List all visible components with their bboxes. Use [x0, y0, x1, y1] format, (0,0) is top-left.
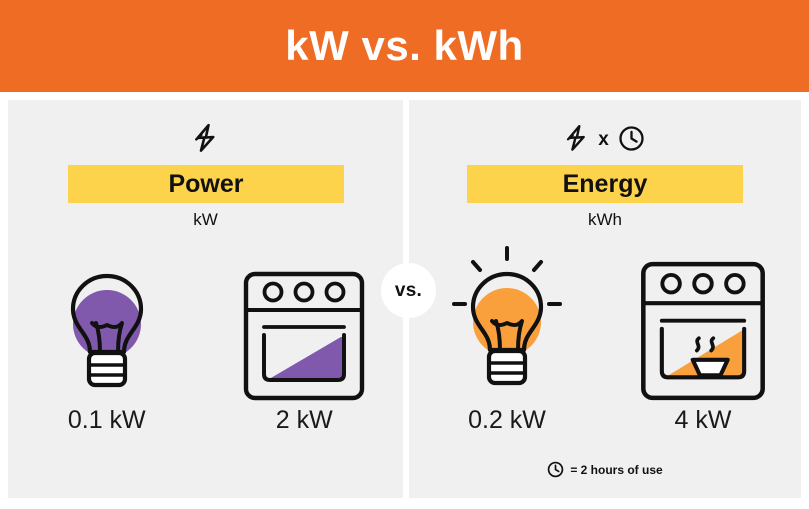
band-label-energy: Energy	[563, 170, 648, 199]
bolt-icon	[193, 123, 219, 153]
multiply-symbol: x	[598, 130, 609, 149]
figures-energy	[409, 242, 801, 402]
vs-label: vs.	[395, 280, 422, 302]
figure-bulb-power	[8, 242, 206, 402]
value-bulb-energy: 0.2 kW	[409, 406, 605, 435]
value-oven-power: 2 kW	[206, 406, 404, 435]
clock-icon	[618, 125, 645, 152]
band-label-power: Power	[168, 170, 243, 199]
unit-power: kW	[8, 210, 403, 230]
formula-power	[8, 118, 403, 158]
lightbulb-icon	[448, 242, 566, 402]
bolt-icon	[565, 123, 589, 153]
oven-icon	[639, 260, 767, 402]
vs-badge: vs.	[381, 263, 436, 318]
value-bulb-power: 0.1 kW	[8, 406, 206, 435]
unit-energy: kWh	[409, 210, 801, 230]
footnote-text: = 2 hours of use	[570, 463, 662, 477]
band-power: Power	[68, 165, 344, 203]
figure-bulb-energy	[409, 242, 605, 402]
clock-icon	[547, 461, 564, 478]
values-power: 0.1 kW 2 kW	[8, 406, 403, 435]
value-oven-energy: 4 kW	[605, 406, 801, 435]
formula-energy: x	[409, 118, 801, 158]
oven-icon	[242, 270, 366, 402]
figure-oven-power	[206, 242, 404, 402]
lightbulb-icon	[59, 262, 155, 402]
panel-power: Power kW	[8, 100, 403, 498]
values-energy: 0.2 kW 4 kW	[409, 406, 801, 435]
page-header: kW vs. kWh	[0, 0, 809, 92]
figure-oven-energy	[605, 242, 801, 402]
panel-energy: x Energy kWh	[409, 100, 801, 498]
footnote-energy: = 2 hours of use	[409, 461, 801, 478]
band-energy: Energy	[467, 165, 743, 203]
figures-power	[8, 242, 403, 402]
page-title: kW vs. kWh	[285, 22, 523, 70]
